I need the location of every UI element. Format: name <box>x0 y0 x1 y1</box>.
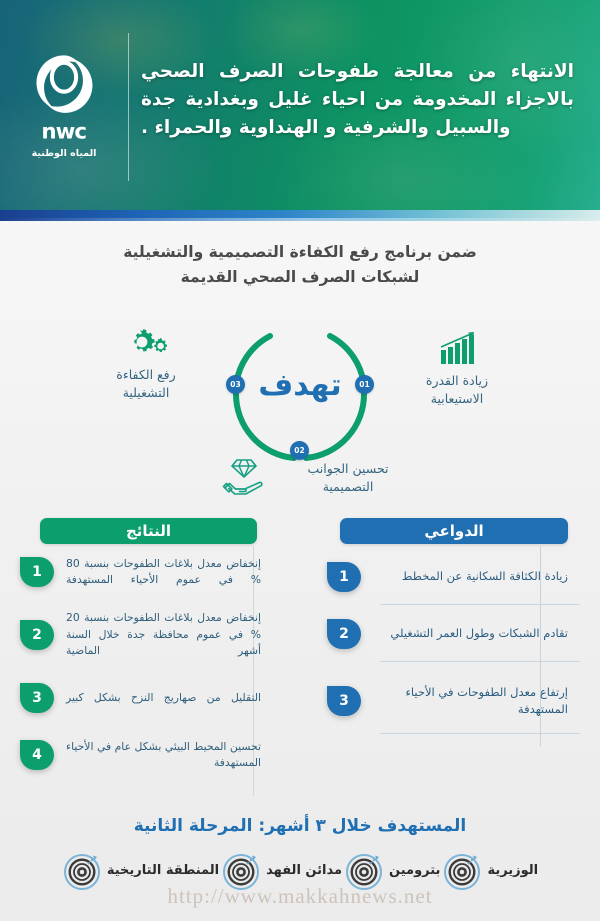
reasons-row-1: 1 زيادة الكثافة السكانية عن المخطط <box>327 562 580 592</box>
goal-item-design: تحسين الجوانب التصميمية <box>196 456 396 500</box>
results-heading: النتائج <box>40 518 257 544</box>
results-pin-2: 2 <box>20 620 54 650</box>
goal-label-capacity: زيادة القدرة الاستيعابية <box>393 372 521 408</box>
results-row-3: 3 التقليل من صهاريج النزح بشكل كبير <box>20 683 273 713</box>
reasons-column: الدواعي 1 زيادة الكثافة السكانية عن المخ… <box>327 518 580 734</box>
goal-item-efficiency: رفع الكفاءة التشغيلية <box>82 326 210 402</box>
results-text-3: التقليل من صهاريج النزح بشكل كبير <box>54 690 273 706</box>
target-icon <box>62 850 102 890</box>
districts-list: المنطقة التاريخية مدائن الفهد <box>0 850 600 890</box>
district-item-madain-alfahd: مدائن الفهد <box>221 850 342 890</box>
subtitle-line-2: لشبكات الصرف الصحي القديمة <box>0 265 600 290</box>
target-icon <box>442 850 482 890</box>
reasons-separator-1 <box>380 604 580 605</box>
goal-design-line2: التصميمية <box>323 479 374 494</box>
district-item-historic: المنطقة التاريخية <box>62 850 219 890</box>
nwc-swirl-icon <box>33 52 95 114</box>
results-column: النتائج 1 إنخفاض معدل بلاغات الطفوحات بن… <box>20 518 273 771</box>
goal-design-line1: تحسين الجوانب <box>308 461 389 476</box>
district-name-historic: المنطقة التاريخية <box>107 863 219 878</box>
header-divider <box>128 33 129 181</box>
district-name-madain-alfahd: مدائن الفهد <box>266 863 342 878</box>
gears-icon <box>123 326 169 362</box>
goal-capacity-line2: الاستيعابية <box>431 391 483 406</box>
svg-text:nwc: nwc <box>42 119 87 144</box>
results-pin-4: 4 <box>20 740 54 770</box>
reasons-separator-2 <box>380 661 580 662</box>
page-title: الانتهاء من معالجة طفوحات الصرف الصحي با… <box>129 58 600 152</box>
reasons-separator-3 <box>380 733 580 734</box>
results-and-reasons-section: النتائج 1 إنخفاض معدل بلاغات الطفوحات بن… <box>0 518 600 803</box>
goal-badge-03: 03 <box>226 375 245 394</box>
goal-label-design: تحسين الجوانب التصميمية <box>300 460 396 496</box>
district-item-petromin: بترومين <box>344 850 440 890</box>
logo-subtitle: المياه الوطنية <box>32 148 97 159</box>
results-row-2: 2 إنخفاض معدل بلاغات الطفوحات بنسبة 20 %… <box>20 610 273 659</box>
bar-chart-growth-icon <box>437 330 477 368</box>
targets-title: المستهدف خلال ٣ أشهر: المرحلة الثانية <box>0 812 600 836</box>
nwc-logo: nwc المياه الوطنية <box>0 52 128 159</box>
infographic-page: الانتهاء من معالجة طفوحات الصرف الصحي با… <box>0 0 600 921</box>
results-pin-1: 1 <box>20 557 54 587</box>
subtitle-line-1: ضمن برنامج رفع الكفاءة التصميمية والتشغي… <box>0 240 600 265</box>
reasons-row-2: 2 تقادم الشبكات وطول العمر التشغيلي <box>327 619 580 649</box>
district-name-alwazeeriyah: الوزيرية <box>487 863 538 878</box>
goal-efficiency-line2: التشغيلية <box>123 385 170 400</box>
results-text-1: إنخفاض معدل بلاغات الطفوحات بنسبة 80 % ف… <box>54 556 273 588</box>
header-bar-sheen <box>0 218 600 221</box>
diamond-in-hand-icon <box>221 456 267 496</box>
district-name-petromin: بترومين <box>389 863 440 878</box>
reasons-pin-3: 3 <box>327 686 361 716</box>
targets-section: المستهدف خلال ٣ أشهر: المرحلة الثانية ال… <box>0 812 600 921</box>
reasons-text-2: تقادم الشبكات وطول العمر التشغيلي <box>361 625 580 642</box>
goal-capacity-line1: زيادة القدرة <box>426 373 488 388</box>
target-icon <box>344 850 384 890</box>
reasons-heading: الدواعي <box>340 518 568 544</box>
reasons-row-3: 3 إرتفاع معدل الطفوحات في الأحياء المسته… <box>327 684 580 719</box>
district-item-alwazeeriyah: الوزيرية <box>442 850 538 890</box>
reasons-pin-1: 1 <box>327 562 361 592</box>
results-text-2: إنخفاض معدل بلاغات الطفوحات بنسبة 20 % ف… <box>54 610 273 659</box>
results-row-4: 4 تحسين المحيط البيئي بشكل عام في الأحيا… <box>20 739 273 771</box>
results-pin-3: 3 <box>20 683 54 713</box>
goals-diagram: تهدف 01 02 03 زيادة القدرة الاستيعابية <box>0 318 600 514</box>
goal-badge-01: 01 <box>355 375 374 394</box>
results-text-4: تحسين المحيط البيئي بشكل عام في الأحياء … <box>54 739 273 771</box>
goal-item-capacity: زيادة القدرة الاستيعابية <box>393 330 521 408</box>
results-row-1: 1 إنخفاض معدل بلاغات الطفوحات بنسبة 80 %… <box>20 556 273 588</box>
reasons-pin-2: 2 <box>327 619 361 649</box>
target-icon <box>221 850 261 890</box>
goal-label-efficiency: رفع الكفاءة التشغيلية <box>82 366 210 402</box>
header-banner: الانتهاء من معالجة طفوحات الصرف الصحي با… <box>0 0 600 210</box>
goals-center-label: تهدف <box>238 368 362 403</box>
reasons-text-3: إرتفاع معدل الطفوحات في الأحياء المستهدف… <box>361 684 580 719</box>
nwc-wordmark-icon: nwc <box>8 118 119 144</box>
goal-efficiency-line1: رفع الكفاءة <box>116 367 175 382</box>
reasons-text-1: زيادة الكثافة السكانية عن المخطط <box>361 568 580 585</box>
program-subtitle: ضمن برنامج رفع الكفاءة التصميمية والتشغي… <box>0 240 600 290</box>
